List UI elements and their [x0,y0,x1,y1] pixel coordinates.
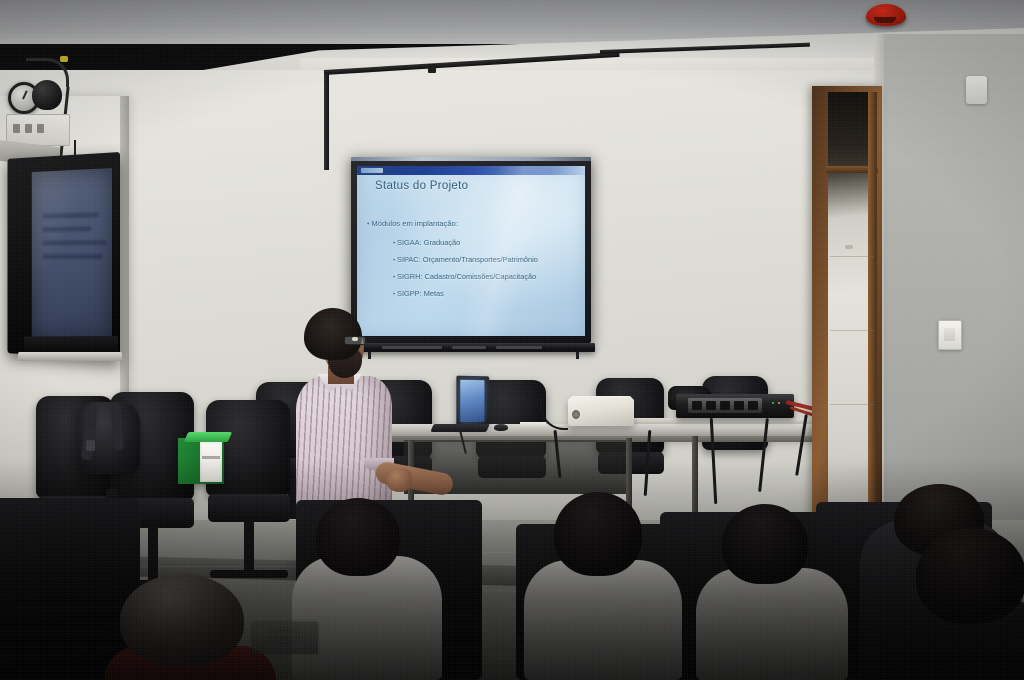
rack-slot [720,401,730,410]
slide-bullet: SIPAC: Orçamento/Transportes/Patrimônio [393,255,538,264]
rack-slot [748,401,758,410]
chair-base [210,570,288,578]
door-tile-line [830,330,874,331]
backpack-clip [86,440,95,451]
whiteboard-leg [576,352,579,359]
slide-bullet: SIGPP: Metas [393,289,444,298]
projector-conduit-drop [324,74,329,170]
wall-plate-port [13,124,20,133]
slide-bullet: SIGRH: Cadastro/Comissões/Capacitação [393,272,536,281]
presenter-hand [386,468,412,492]
reserved-seat-label: PRIORIDADE CADEIRA DE USO [252,622,318,654]
gooseneck-tip [60,56,68,62]
tv-screen [32,168,112,344]
rack-led-icon [772,402,774,404]
door-handle[interactable] [845,245,853,249]
slide-level1-bullet: Módulos em implantação: [367,219,458,228]
slide-app-logo-icon [361,168,383,173]
chair-post [148,526,158,584]
slide-bullet: SIGAA: Graduação [393,238,460,247]
green-box-label-text [202,456,220,459]
av-rack-front-panel [688,398,762,413]
tv-glare [32,168,112,344]
mouse[interactable] [494,424,508,431]
fire-alarm-lens [874,17,896,23]
pen-tray-slot [496,346,542,349]
rack-led-icon [778,402,780,404]
slide-titlebar [357,166,585,175]
rack-slot [734,401,744,410]
conduit-joint [428,64,436,73]
office-chair [206,400,290,596]
right-wall-return [880,34,1024,540]
tv-cable [74,140,76,156]
whiteboard-top-highlight [351,157,591,161]
audience-head [554,492,642,576]
laptop-screen [460,380,484,422]
room-photo: Status do Projeto Módulos em implantação… [0,0,1024,680]
door-tile-line [830,256,874,257]
chair-post [244,520,254,574]
green-box-lid [184,432,232,442]
green-box-label [200,442,222,482]
rack-slot [692,401,702,410]
projector-lens-icon [572,410,580,419]
tv-shelf [18,352,122,361]
audience-shoulders [696,568,848,680]
light-switch[interactable] [938,320,962,350]
audience-shoulders [524,560,682,680]
chair-seat [208,494,290,522]
wall-plate-port [25,124,32,133]
door-jamb [868,92,877,540]
reserved-seat-line: USO [279,641,290,648]
audience-head [916,528,1024,624]
rack-slot [706,401,716,410]
door-tile-line [830,404,874,405]
wall-plate-port [37,124,44,133]
slide-title: Status do Projeto [375,180,468,192]
presenter-glasses-glint [352,337,358,341]
audience-head [120,574,244,666]
table-leg [692,436,698,518]
motion-sensor-icon [966,76,987,104]
wall-speaker-icon [32,80,62,110]
wall-plate [6,114,70,146]
audience-head [316,498,400,576]
audience-head [722,504,808,584]
presenter-hair [304,308,362,360]
pen-tray-slot [452,346,486,349]
paper-sheet [520,422,546,427]
